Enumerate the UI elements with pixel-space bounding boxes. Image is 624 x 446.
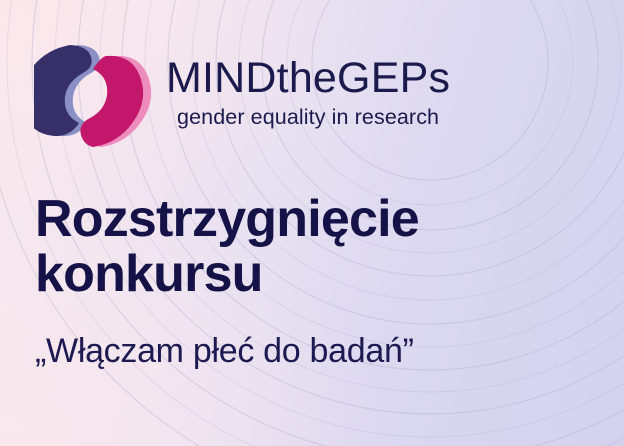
headline-line-2: konkursu: [35, 247, 595, 302]
page-subtitle: „Włączam płeć do badań”: [35, 332, 595, 370]
logo-text-block: MINDtheGEPs gender equality in research: [166, 55, 450, 129]
logo-tagline: gender equality in research: [166, 107, 450, 129]
logo-lockup: MINDtheGEPs gender equality in research: [34, 36, 450, 148]
poster-canvas: MINDtheGEPs gender equality in research …: [0, 0, 624, 446]
headline-line-1: Rozstrzygnięcie: [35, 192, 595, 247]
logo-wordmark: MINDtheGEPs: [166, 57, 450, 100]
mindthegeps-quotation-marks-logo-icon: [34, 36, 152, 148]
page-title: Rozstrzygnięcie konkursu: [35, 192, 595, 302]
